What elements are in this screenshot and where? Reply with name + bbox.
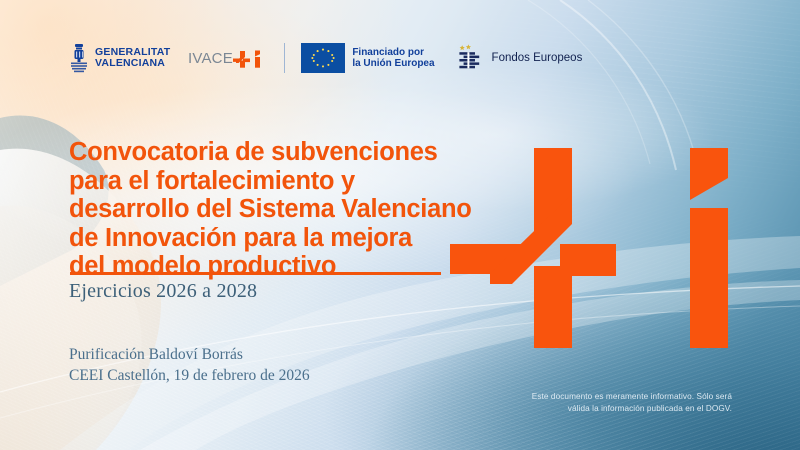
presentation-slide: GENERALITAT VALENCIANA IVACE <box>0 0 800 450</box>
svg-text:IVACE: IVACE <box>188 50 233 67</box>
headline-line-3: desarrollo del Sistema Valenciano <box>69 195 489 224</box>
european-union-funding-logo: Financiado por la Unión Europea <box>301 43 434 73</box>
logo-bar: GENERALITAT VALENCIANA IVACE <box>68 38 582 78</box>
logo-divider <box>284 43 285 73</box>
ivace-logo: IVACE <box>188 48 264 68</box>
headline-line-4: de Innovación para la mejora <box>69 224 489 253</box>
disclaimer-line-1: Este documento es meramente informativo.… <box>482 391 732 403</box>
eu-funding-text: Financiado por la Unión Europea <box>352 47 434 70</box>
eu-line-1: Financiado por <box>352 47 434 59</box>
generalitat-wordmark: GENERALITAT VALENCIANA <box>95 47 170 70</box>
headline-line-2: para el fortalecimiento y <box>69 167 489 196</box>
ivace-plus-i-large-mark <box>450 148 760 348</box>
disclaimer-note: Este documento es meramente informativo.… <box>482 391 732 414</box>
headline-line-5: del modelo productivo <box>69 252 489 281</box>
disclaimer-line-2: válida la información publicada en el DO… <box>482 403 732 415</box>
speaker-venue-date: CEEI Castellón, 19 de febrero de 2026 <box>69 365 310 386</box>
generalitat-crest-icon <box>68 43 90 73</box>
subtitle: Ejercicios 2026 a 2028 <box>69 278 257 304</box>
fondos-europeos-logo: Fondos Europeos <box>457 44 583 72</box>
generalitat-valenciana-logo: GENERALITAT VALENCIANA <box>68 43 170 73</box>
plus-i-icon <box>233 51 260 68</box>
speaker-name: Purificación Baldoví Borrás <box>69 344 310 365</box>
eu-flag-icon <box>301 43 345 73</box>
title-divider-rule <box>70 272 441 275</box>
eu-line-2: la Unión Europea <box>352 58 434 70</box>
generalitat-line-2: VALENCIANA <box>95 58 170 70</box>
ivace-wordmark: IVACE <box>188 48 264 68</box>
speaker-info: Purificación Baldoví Borrás CEEI Castell… <box>69 344 310 386</box>
fondos-europeos-label: Fondos Europeos <box>492 52 583 65</box>
page-title: Convocatoria de subvenciones para el for… <box>69 138 489 281</box>
fondos-europeos-icon <box>457 44 485 72</box>
headline-line-1: Convocatoria de subvenciones <box>69 138 489 167</box>
